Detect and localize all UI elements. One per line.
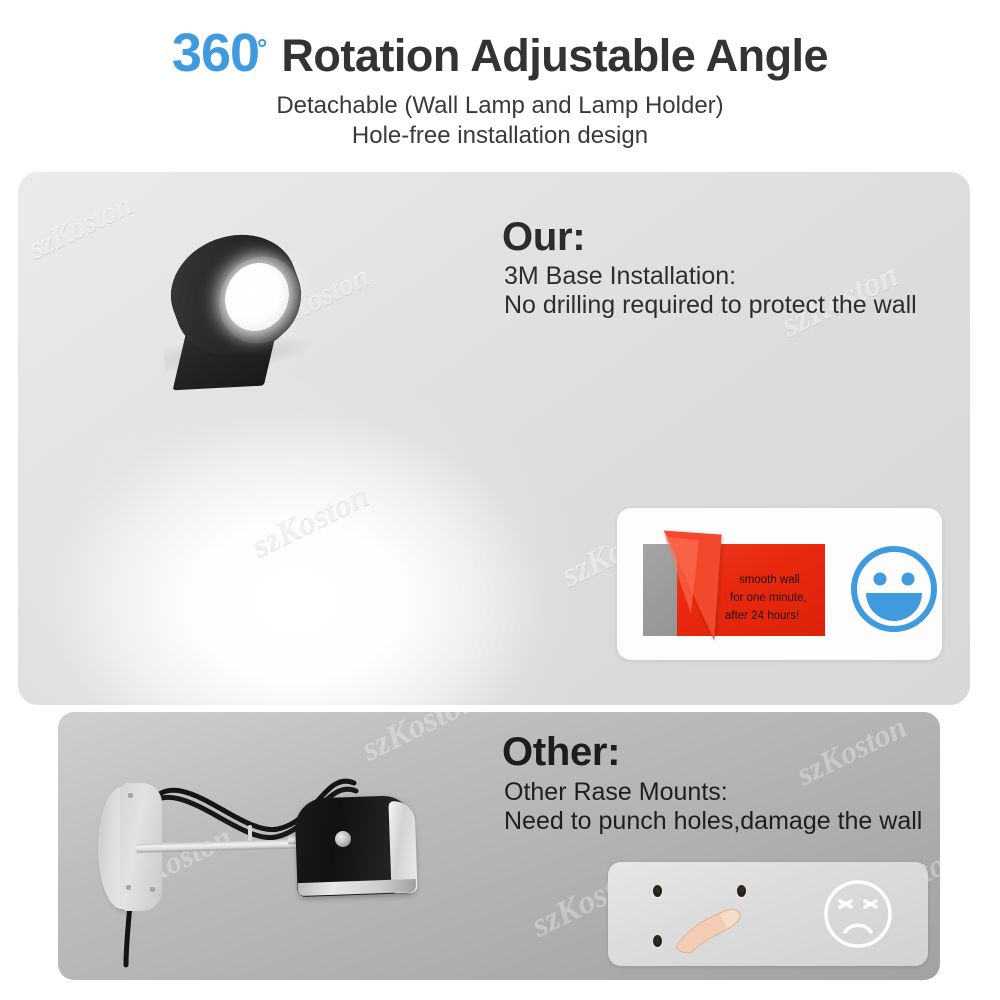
plate-screw [128,793,133,798]
other-heading: Other: [502,730,620,775]
drilled-hole [653,935,662,947]
watermark: szKoston [24,188,138,267]
plate-screw [150,887,155,892]
title-text: Rotation Adjustable Angle [281,30,828,81]
lamp-pivot-joint [335,831,351,847]
subtitle-line-2: Hole-free installation design [0,122,1000,150]
header: 360°Rotation Adjustable Angle Detachable… [0,0,1000,168]
plate-screw [126,885,131,890]
drilled-hole [653,885,662,897]
drilled-holes-card [608,862,928,966]
tape-peel-highlight [649,536,699,614]
adhesive-tape-card: smooth wall for one minute, after 24 hou… [617,508,942,660]
other-body-line-2: Need to punch holes,damage the wall [504,807,922,836]
pointing-finger-icon [676,906,762,954]
degree-symbol-icon: ° [257,33,267,63]
tape-instruction-line-1: smooth wall [739,574,800,586]
wall-spotlight-product-image [168,236,328,386]
our-heading: Our: [502,215,585,260]
subtitle-line-1: Detachable (Wall Lamp and Lamp Holder) [0,92,1000,120]
watermark: szKoston [246,477,375,566]
other-body-line-1: Other Rase Mounts: [504,778,728,807]
page-title: 360°Rotation Adjustable Angle [0,22,1000,84]
tape-instruction-line-2: for one minute, [730,592,807,604]
tape-instruction-line-3: after 24 hours! [725,610,799,622]
smiley-face-icon [848,543,940,635]
arm-wall-lamp-product-image [90,765,450,965]
our-body-line-2: No drilling required to protect the wall [504,291,917,320]
watermark: szKoston [791,712,913,793]
watermark: szKoston [356,712,485,769]
sad-face-icon [820,876,896,952]
drilled-hole [737,885,746,897]
badge-360-number: 360 [172,23,259,83]
our-body-line-1: 3M Base Installation: [504,262,736,291]
